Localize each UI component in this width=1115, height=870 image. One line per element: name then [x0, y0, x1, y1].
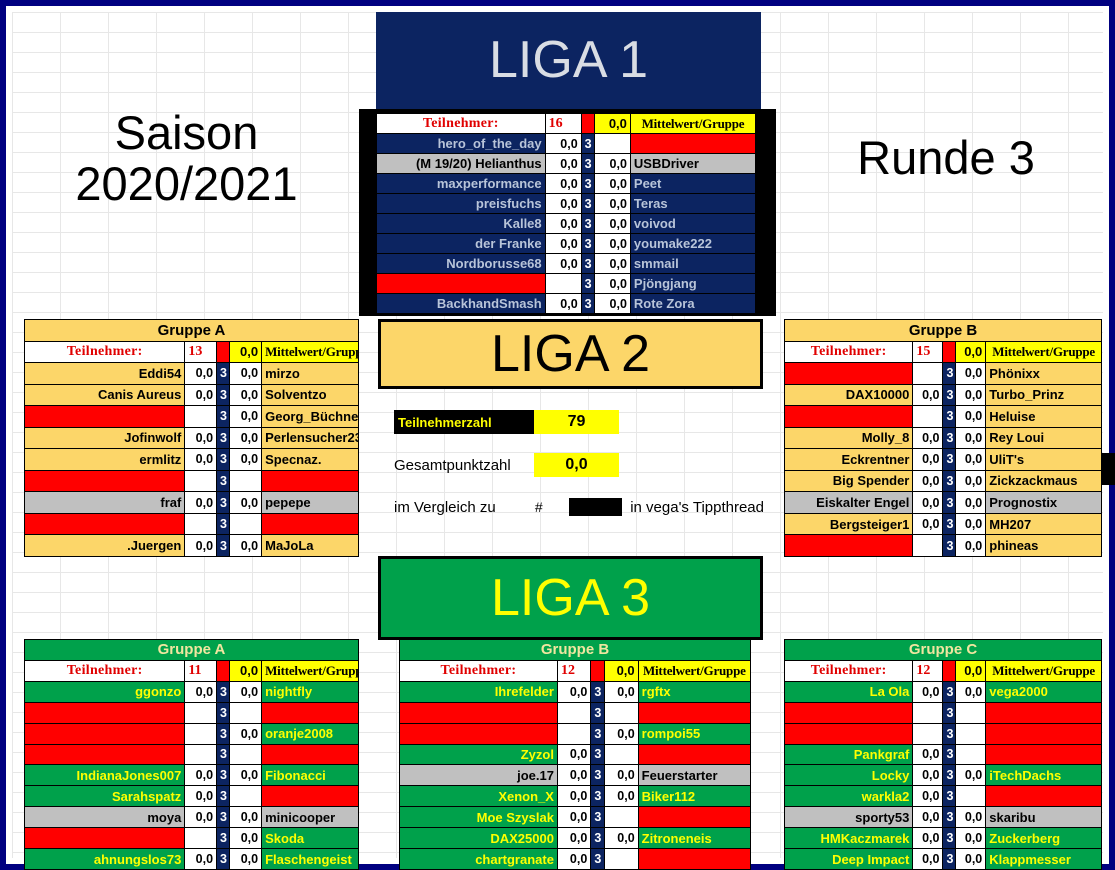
table-row[interactable]: maxperformance0,030,0Peet [377, 174, 756, 194]
score-left [913, 702, 943, 723]
score-left: 0,0 [913, 744, 943, 765]
table-row[interactable]: Kalle80,030,0voivod [377, 214, 756, 234]
player-right[interactable] [638, 702, 750, 723]
player-right[interactable]: Feuerstarter [638, 765, 750, 786]
player-right[interactable]: youmake222 [630, 234, 755, 254]
liga3-gruppe-b-table: Gruppe BTeilnehmer:120,0Mittelwert/Grupp… [399, 639, 751, 870]
liga3-gruppe-c-table: Gruppe CTeilnehmer:120,0Mittelwert/Grupp… [784, 639, 1102, 870]
player-left[interactable]: HMKaczmarek [785, 828, 913, 849]
vergleich-suffix: in vega's Tippthread [630, 499, 764, 516]
score-right: 0,0 [956, 535, 986, 557]
round-marker: 3 [217, 513, 230, 535]
teilnehmer-count: 15 [913, 341, 943, 363]
round-marker: 3 [581, 174, 594, 194]
player-right[interactable]: vega2000 [986, 681, 1102, 702]
table-row[interactable]: 3 [25, 470, 359, 492]
table-row[interactable]: 30,0oranje2008 [25, 723, 359, 744]
table-row[interactable]: .Juergen0,030,0MaJoLa [25, 535, 359, 557]
table-row[interactable]: 3 [25, 744, 359, 765]
teilnehmer-count: 12 [913, 660, 943, 681]
score-right: 0,0 [956, 513, 986, 535]
score-left: 0,0 [557, 681, 590, 702]
player-left[interactable] [785, 702, 913, 723]
round-marker: 3 [943, 513, 956, 535]
liga1-table-wrap: Teilnehmer:160,0Mittelwert/Gruppehero_of… [376, 113, 756, 313]
table-row[interactable]: moya0,030,0minicooper [25, 807, 359, 828]
round-marker: 3 [591, 765, 605, 786]
mittelwert-header: Mittelwert/Gruppe [262, 660, 359, 681]
score-right: 0,0 [956, 828, 986, 849]
score-left: 0,0 [557, 807, 590, 828]
table-row[interactable]: ggonzo0,030,0nightfly [25, 681, 359, 702]
player-left[interactable] [785, 723, 913, 744]
table-row[interactable]: chartgranate0,03 [400, 849, 751, 870]
score-right [230, 786, 262, 807]
liga3-gruppe-a-wrap: Gruppe ATeilnehmer:110,0Mittelwert/Grupp… [24, 639, 359, 870]
player-left[interactable]: DAX25000 [400, 828, 558, 849]
player-right[interactable]: Pjöngjang [630, 274, 755, 294]
liga3-gruppe-b-wrap: Gruppe BTeilnehmer:120,0Mittelwert/Grupp… [399, 639, 751, 870]
player-right[interactable] [986, 723, 1102, 744]
player-right[interactable] [262, 513, 359, 535]
player-right[interactable]: phineas [986, 535, 1102, 557]
group-average-value: 0,0 [594, 114, 630, 134]
score-right: 0,0 [594, 214, 630, 234]
table-row[interactable]: Locky0,030,0iTechDachs [785, 765, 1102, 786]
round-marker: 3 [943, 744, 956, 765]
table-row[interactable]: 3 [785, 723, 1102, 744]
round-marker: 3 [943, 807, 956, 828]
player-left[interactable]: Eddi54 [25, 363, 185, 385]
score-right: 0,0 [956, 492, 986, 514]
score-right: 0,0 [605, 723, 638, 744]
score-right: 0,0 [230, 384, 262, 406]
table-row[interactable]: ermlitz0,030,0Specnaz. [25, 449, 359, 471]
player-left[interactable]: Pankgraf [785, 744, 913, 765]
table-row[interactable]: 30,0phineas [785, 535, 1102, 557]
player-left[interactable]: Bergsteiger1 [785, 513, 913, 535]
player-left[interactable]: ggonzo [25, 681, 185, 702]
table-row[interactable]: Nordborusse680,030,0smmail [377, 254, 756, 274]
round-marker: 3 [591, 744, 605, 765]
player-left[interactable]: ermlitz [25, 449, 185, 471]
table-row[interactable]: IndianaJones0070,030,0Fibonacci [25, 765, 359, 786]
player-right[interactable] [986, 702, 1102, 723]
score-right: 0,0 [594, 154, 630, 174]
player-left[interactable]: Ihrefelder [400, 681, 558, 702]
round-marker: 3 [943, 828, 956, 849]
teilnehmer-red-marker [217, 660, 230, 681]
round-marker: 3 [217, 535, 230, 557]
score-right [230, 470, 262, 492]
group-header-row: Gruppe B [785, 320, 1102, 342]
table-row[interactable]: preisfuchs0,030,0Teras [377, 194, 756, 214]
player-right[interactable]: skaribu [986, 807, 1102, 828]
player-left[interactable]: Moe Szyslak [400, 807, 558, 828]
score-right: 0,0 [230, 492, 262, 514]
player-right[interactable] [638, 849, 750, 870]
player-left[interactable]: hero_of_the_day [377, 134, 546, 154]
player-right[interactable]: Teras [630, 194, 755, 214]
player-right[interactable] [986, 744, 1102, 765]
player-right[interactable]: Georg_Büchner [262, 406, 359, 428]
player-right[interactable]: Phönixx [986, 363, 1102, 385]
season-title-line2: 2020/2021 [75, 157, 297, 210]
score-right: 0,0 [956, 406, 986, 428]
score-left: 0,0 [185, 849, 217, 870]
round-marker: 3 [943, 427, 956, 449]
score-right [956, 702, 986, 723]
group-average-value: 0,0 [605, 660, 638, 681]
teilnehmer-row: Teilnehmer:150,0Mittelwert/Gruppe [785, 341, 1102, 363]
player-left[interactable]: BackhandSmash [377, 294, 546, 314]
table-row[interactable]: HMKaczmarek0,030,0Zuckerberg [785, 828, 1102, 849]
player-right[interactable]: Zuckerberg [986, 828, 1102, 849]
player-left[interactable]: (M 19/20) Helianthus [377, 154, 546, 174]
player-right[interactable]: rompoi55 [638, 723, 750, 744]
player-left[interactable]: Sarahspatz [25, 786, 185, 807]
player-left[interactable]: der Franke [377, 234, 546, 254]
score-left: 0,0 [545, 134, 581, 154]
table-row[interactable]: Zyzol0,03 [400, 744, 751, 765]
score-right [594, 134, 630, 154]
round-marker: 3 [217, 702, 230, 723]
player-right[interactable]: Zitroneneis [638, 828, 750, 849]
table-row[interactable]: (M 19/20) Helianthus0,030,0USBDriver [377, 154, 756, 174]
table-row[interactable]: Bergsteiger10,030,0MH207 [785, 513, 1102, 535]
player-left[interactable] [785, 406, 913, 428]
teilnehmer-row: Teilnehmer:130,0Mittelwert/Gruppe [25, 341, 359, 363]
score-left [557, 702, 590, 723]
player-left[interactable]: Deep Impact [785, 849, 913, 870]
table-row[interactable]: joe.170,030,0Feuerstarter [400, 765, 751, 786]
table-row[interactable]: Pankgraf0,03 [785, 744, 1102, 765]
player-left[interactable] [25, 702, 185, 723]
round-marker: 3 [591, 786, 605, 807]
player-right[interactable]: oranje2008 [262, 723, 359, 744]
player-left[interactable]: Eckrentner [785, 449, 913, 471]
table-row[interactable]: sporty530,030,0skaribu [785, 807, 1102, 828]
group-average-value: 0,0 [956, 341, 986, 363]
round-marker: 3 [581, 214, 594, 234]
score-left [185, 470, 217, 492]
player-right[interactable] [262, 702, 359, 723]
player-left[interactable] [25, 406, 185, 428]
player-left[interactable]: Nordborusse68 [377, 254, 546, 274]
score-right [605, 849, 638, 870]
player-left[interactable]: .Juergen [25, 535, 185, 557]
liga2-gruppe-b-table: Gruppe BTeilnehmer:150,0Mittelwert/Grupp… [784, 319, 1102, 557]
teilnehmer-label: Teilnehmer: [785, 660, 913, 681]
score-left: 0,0 [913, 449, 943, 471]
score-right: 0,0 [605, 828, 638, 849]
player-left[interactable]: DAX10000 [785, 384, 913, 406]
player-right[interactable] [638, 744, 750, 765]
player-left[interactable]: Jofinwolf [25, 427, 185, 449]
player-left[interactable] [25, 470, 185, 492]
table-row[interactable]: Big Spender0,030,0Zickzackmaus [785, 470, 1102, 492]
round-marker: 3 [943, 765, 956, 786]
player-right[interactable]: MH207 [986, 513, 1102, 535]
player-right[interactable]: MaJoLa [262, 535, 359, 557]
group-header-row: Gruppe A [25, 640, 359, 661]
player-left[interactable]: Big Spender [785, 470, 913, 492]
player-right[interactable]: pepepe [262, 492, 359, 514]
player-right[interactable]: Skoda [262, 828, 359, 849]
score-right: 0,0 [605, 681, 638, 702]
player-right[interactable]: Rote Zora [630, 294, 755, 314]
score-left: 0,0 [913, 427, 943, 449]
teilnehmer-row: Teilnehmer:110,0Mittelwert/Gruppe [25, 660, 359, 681]
group-average-value: 0,0 [230, 660, 262, 681]
player-left[interactable] [785, 363, 913, 385]
group-average-value: 0,0 [956, 660, 986, 681]
player-left[interactable]: Kalle8 [377, 214, 546, 234]
table-row[interactable]: 3 [25, 702, 359, 723]
vergleich-row: im Vergleich zu # in vega's Tippthread [394, 497, 764, 517]
table-row[interactable]: Jofinwolf0,030,0Perlensucher23 [25, 427, 359, 449]
score-left: 0,0 [545, 214, 581, 234]
score-left: 0,0 [913, 807, 943, 828]
player-right[interactable]: Klappmesser [986, 849, 1102, 870]
score-left: 0,0 [185, 384, 217, 406]
table-row[interactable]: Xenon_X0,030,0Biker112 [400, 786, 751, 807]
mittelwert-header: Mittelwert/Gruppe [630, 114, 755, 134]
player-left[interactable]: chartgranate [400, 849, 558, 870]
hash-symbol: # [535, 499, 569, 515]
teilnehmer-count: 12 [557, 660, 590, 681]
round-marker: 3 [217, 681, 230, 702]
player-left[interactable]: ahnungslos73 [25, 849, 185, 870]
round-marker: 3 [217, 849, 230, 870]
teilnehmer-label: Teilnehmer: [785, 341, 913, 363]
table-row[interactable]: 30,0Heluise [785, 406, 1102, 428]
score-right: 0,0 [230, 363, 262, 385]
player-left[interactable]: maxperformance [377, 174, 546, 194]
group-header-label: Gruppe A [25, 640, 359, 661]
player-right[interactable]: UliT's [986, 449, 1102, 471]
score-right [605, 807, 638, 828]
player-left[interactable]: IndianaJones007 [25, 765, 185, 786]
round-marker: 3 [217, 807, 230, 828]
vergleich-label: im Vergleich zu [394, 499, 535, 516]
player-right[interactable]: Peet [630, 174, 755, 194]
score-left: 0,0 [557, 849, 590, 870]
table-row[interactable]: BackhandSmash0,030,0Rote Zora [377, 294, 756, 314]
liga3-banner: LIGA 3 [378, 556, 763, 640]
round-marker: 3 [217, 449, 230, 471]
round-marker: 3 [581, 134, 594, 154]
player-right[interactable] [986, 786, 1102, 807]
liga1-table: Teilnehmer:160,0Mittelwert/Gruppehero_of… [376, 113, 756, 314]
score-left: 0,0 [185, 449, 217, 471]
score-right: 0,0 [230, 427, 262, 449]
score-right: 0,0 [956, 427, 986, 449]
round-marker: 3 [581, 254, 594, 274]
score-left: 0,0 [545, 174, 581, 194]
group-header-label: Gruppe B [400, 640, 751, 661]
table-row[interactable]: 3 [400, 702, 751, 723]
score-right: 0,0 [230, 449, 262, 471]
player-left[interactable] [400, 702, 558, 723]
round-marker: 3 [943, 363, 956, 385]
teilnehmer-red-marker [943, 660, 956, 681]
score-left: 0,0 [913, 681, 943, 702]
player-right[interactable]: Fibonacci [262, 765, 359, 786]
group-header-row: Gruppe A [25, 320, 359, 342]
teilnehmerzahl-label: Teilnehmerzahl [394, 410, 534, 434]
player-right[interactable] [638, 807, 750, 828]
table-row[interactable]: 3 [785, 702, 1102, 723]
player-right[interactable]: Biker112 [638, 786, 750, 807]
player-left[interactable]: Locky [785, 765, 913, 786]
player-right[interactable]: Zickzackmaus [986, 470, 1102, 492]
player-left[interactable] [25, 513, 185, 535]
round-marker: 3 [943, 449, 956, 471]
round-title: Runde 3 [781, 6, 1111, 311]
group-average-value: 0,0 [230, 341, 262, 363]
score-right: 0,0 [230, 807, 262, 828]
score-right: 0,0 [956, 363, 986, 385]
table-row[interactable]: Deep Impact0,030,0Klappmesser [785, 849, 1102, 870]
table-row[interactable]: DAX250000,030,0Zitroneneis [400, 828, 751, 849]
table-row[interactable]: DAX100000,030,0Turbo_Prinz [785, 384, 1102, 406]
table-row[interactable]: Sarahspatz0,03 [25, 786, 359, 807]
player-left[interactable]: Canis Aureus [25, 384, 185, 406]
table-row[interactable]: Eddi540,030,0mirzo [25, 363, 359, 385]
table-row[interactable]: 30,0rompoi55 [400, 723, 751, 744]
round-marker: 3 [217, 765, 230, 786]
player-left[interactable] [25, 744, 185, 765]
score-left: 0,0 [913, 765, 943, 786]
score-right: 0,0 [956, 449, 986, 471]
player-left[interactable] [785, 535, 913, 557]
player-right[interactable]: voivod [630, 214, 755, 234]
player-left[interactable] [25, 828, 185, 849]
season-title: Saison 2020/2021 [15, 6, 358, 311]
player-right[interactable]: rgftx [638, 681, 750, 702]
player-left[interactable] [400, 723, 558, 744]
player-left[interactable]: Eiskalter Engel [785, 492, 913, 514]
player-left[interactable]: sporty53 [785, 807, 913, 828]
table-row[interactable]: Eiskalter Engel0,030,0Prognostix [785, 492, 1102, 514]
score-left [185, 406, 217, 428]
player-right[interactable] [262, 470, 359, 492]
teilnehmer-row: Teilnehmer:160,0Mittelwert/Gruppe [377, 114, 756, 134]
score-left [545, 274, 581, 294]
vergleich-value-box [569, 498, 622, 516]
mittelwert-header: Mittelwert/Gruppe [986, 660, 1102, 681]
player-right[interactable]: minicooper [262, 807, 359, 828]
table-row[interactable]: fraf0,030,0pepepe [25, 492, 359, 514]
table-row[interactable]: Eckrentner0,030,0UliT's [785, 449, 1102, 471]
player-right[interactable]: Heluise [986, 406, 1102, 428]
score-left: 0,0 [545, 294, 581, 314]
player-right[interactable]: mirzo [262, 363, 359, 385]
table-row[interactable]: Canis Aureus0,030,0Solventzo [25, 384, 359, 406]
player-left[interactable]: La Ola [785, 681, 913, 702]
player-right[interactable]: smmail [630, 254, 755, 274]
table-row[interactable]: 3 [25, 513, 359, 535]
player-left[interactable]: joe.17 [400, 765, 558, 786]
table-row[interactable]: Moe Szyslak0,03 [400, 807, 751, 828]
player-right[interactable]: Prognostix [986, 492, 1102, 514]
score-right: 0,0 [956, 384, 986, 406]
teilnehmer-row: Teilnehmer:120,0Mittelwert/Gruppe [785, 660, 1102, 681]
player-right[interactable] [262, 744, 359, 765]
player-left[interactable]: Zyzol [400, 744, 558, 765]
table-row[interactable]: warkla20,03 [785, 786, 1102, 807]
table-row[interactable]: Molly_80,030,0Rey Loui [785, 427, 1102, 449]
player-left[interactable] [25, 723, 185, 744]
player-left[interactable]: preisfuchs [377, 194, 546, 214]
player-left[interactable]: warkla2 [785, 786, 913, 807]
score-left [185, 828, 217, 849]
gesamtpunktzahl-value: 0,0 [534, 453, 619, 477]
table-row[interactable]: ahnungslos730,030,0Flaschengeist [25, 849, 359, 870]
player-right[interactable]: Rey Loui [986, 427, 1102, 449]
teilnehmer-label: Teilnehmer: [25, 341, 185, 363]
player-left[interactable] [377, 274, 546, 294]
player-right[interactable]: iTechDachs [986, 765, 1102, 786]
player-left[interactable]: Xenon_X [400, 786, 558, 807]
player-right[interactable]: Turbo_Prinz [986, 384, 1102, 406]
score-right [605, 744, 638, 765]
score-right: 0,0 [230, 849, 262, 870]
mittelwert-header: Mittelwert/Gruppe [262, 341, 359, 363]
table-row[interactable]: La Ola0,030,0vega2000 [785, 681, 1102, 702]
score-right [956, 723, 986, 744]
score-right: 0,0 [594, 274, 630, 294]
score-right: 0,0 [956, 849, 986, 870]
score-right: 0,0 [230, 765, 262, 786]
player-left[interactable]: moya [25, 807, 185, 828]
score-left: 0,0 [913, 828, 943, 849]
table-row[interactable]: 30,0Georg_Büchner [25, 406, 359, 428]
player-right[interactable]: nightfly [262, 681, 359, 702]
round-marker: 3 [943, 681, 956, 702]
round-marker: 3 [217, 828, 230, 849]
score-left: 0,0 [185, 535, 217, 557]
table-row[interactable]: Ihrefelder0,030,0rgftx [400, 681, 751, 702]
round-marker: 3 [943, 406, 956, 428]
player-right[interactable]: USBDriver [630, 154, 755, 174]
teilnehmer-count: 16 [545, 114, 581, 134]
player-right[interactable]: Specnaz. [262, 449, 359, 471]
score-left: 0,0 [185, 807, 217, 828]
player-right[interactable] [630, 134, 755, 154]
spreadsheet-canvas: Saison 2020/2021 LIGA 1 Teilnehmer:160,0… [6, 6, 1109, 864]
score-right [230, 702, 262, 723]
player-left[interactable]: Molly_8 [785, 427, 913, 449]
table-row[interactable]: 30,0Skoda [25, 828, 359, 849]
score-right: 0,0 [230, 681, 262, 702]
player-right[interactable]: Perlensucher23 [262, 427, 359, 449]
round-marker: 3 [217, 470, 230, 492]
group-header-label: Gruppe C [785, 640, 1102, 661]
table-row[interactable]: 30,0Phönixx [785, 363, 1102, 385]
round-marker: 3 [943, 723, 956, 744]
table-row[interactable]: 30,0Pjöngjang [377, 274, 756, 294]
player-right[interactable]: Flaschengeist [262, 849, 359, 870]
player-right[interactable]: Solventzo [262, 384, 359, 406]
table-row[interactable]: hero_of_the_day0,03 [377, 134, 756, 154]
round-marker: 3 [591, 723, 605, 744]
player-left[interactable]: fraf [25, 492, 185, 514]
table-row[interactable]: der Franke0,030,0youmake222 [377, 234, 756, 254]
score-right [956, 744, 986, 765]
player-right[interactable] [262, 786, 359, 807]
